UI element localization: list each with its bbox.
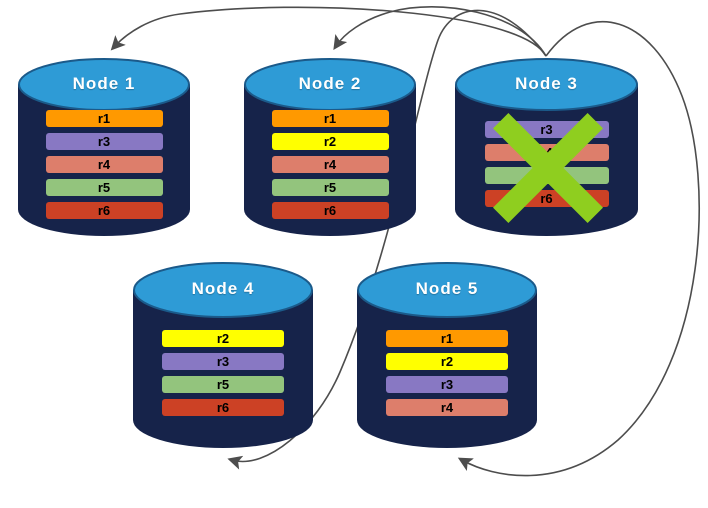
record-r1: r1	[46, 110, 163, 127]
record-r4: r4	[485, 144, 609, 161]
record-r2: r2	[162, 330, 284, 347]
record-list: r1r2r4r5r6	[244, 110, 416, 219]
record-list: r2r3r5r6	[133, 330, 313, 416]
record-r5: r5	[162, 376, 284, 393]
arrow-node3-to-node2	[336, 7, 546, 56]
record-r5: r5	[272, 179, 389, 196]
cylinder-top	[456, 59, 637, 110]
record-r4: r4	[272, 156, 389, 173]
record-r2: r2	[386, 353, 508, 370]
record-r6: r6	[485, 190, 609, 207]
record-r6: r6	[272, 202, 389, 219]
record-r3: r3	[386, 376, 508, 393]
record-r5: r5	[46, 179, 163, 196]
record-r1: r1	[272, 110, 389, 127]
record-r6: r6	[162, 399, 284, 416]
node-3[interactable]: Node 3r3r4r5r6	[455, 58, 638, 236]
record-r2: r2	[272, 133, 389, 150]
record-r3: r3	[46, 133, 163, 150]
node-1[interactable]: Node 1r1r3r4r5r6	[18, 58, 190, 236]
node-2[interactable]: Node 2r1r2r4r5r6	[244, 58, 416, 236]
record-r4: r4	[46, 156, 163, 173]
record-r5: r5	[485, 167, 609, 184]
cylinder-top	[19, 59, 189, 110]
node-5[interactable]: Node 5r1r2r3r4	[357, 262, 537, 448]
cylinder-top	[358, 263, 536, 317]
record-list: r1r2r3r4	[357, 330, 537, 416]
record-r3: r3	[485, 121, 609, 138]
arrow-node3-to-node1	[114, 7, 546, 56]
diagram-canvas: Node 1r1r3r4r5r6Node 2r1r2r4r5r6Node 3r3…	[0, 0, 708, 508]
record-list: r1r3r4r5r6	[18, 110, 190, 219]
node-4[interactable]: Node 4r2r3r5r6	[133, 262, 313, 448]
record-r1: r1	[386, 330, 508, 347]
cylinder-top	[134, 263, 312, 317]
record-list: r3r4r5r6	[455, 121, 638, 207]
cylinder-top	[245, 59, 415, 110]
record-r6: r6	[46, 202, 163, 219]
record-r4: r4	[386, 399, 508, 416]
record-r3: r3	[162, 353, 284, 370]
